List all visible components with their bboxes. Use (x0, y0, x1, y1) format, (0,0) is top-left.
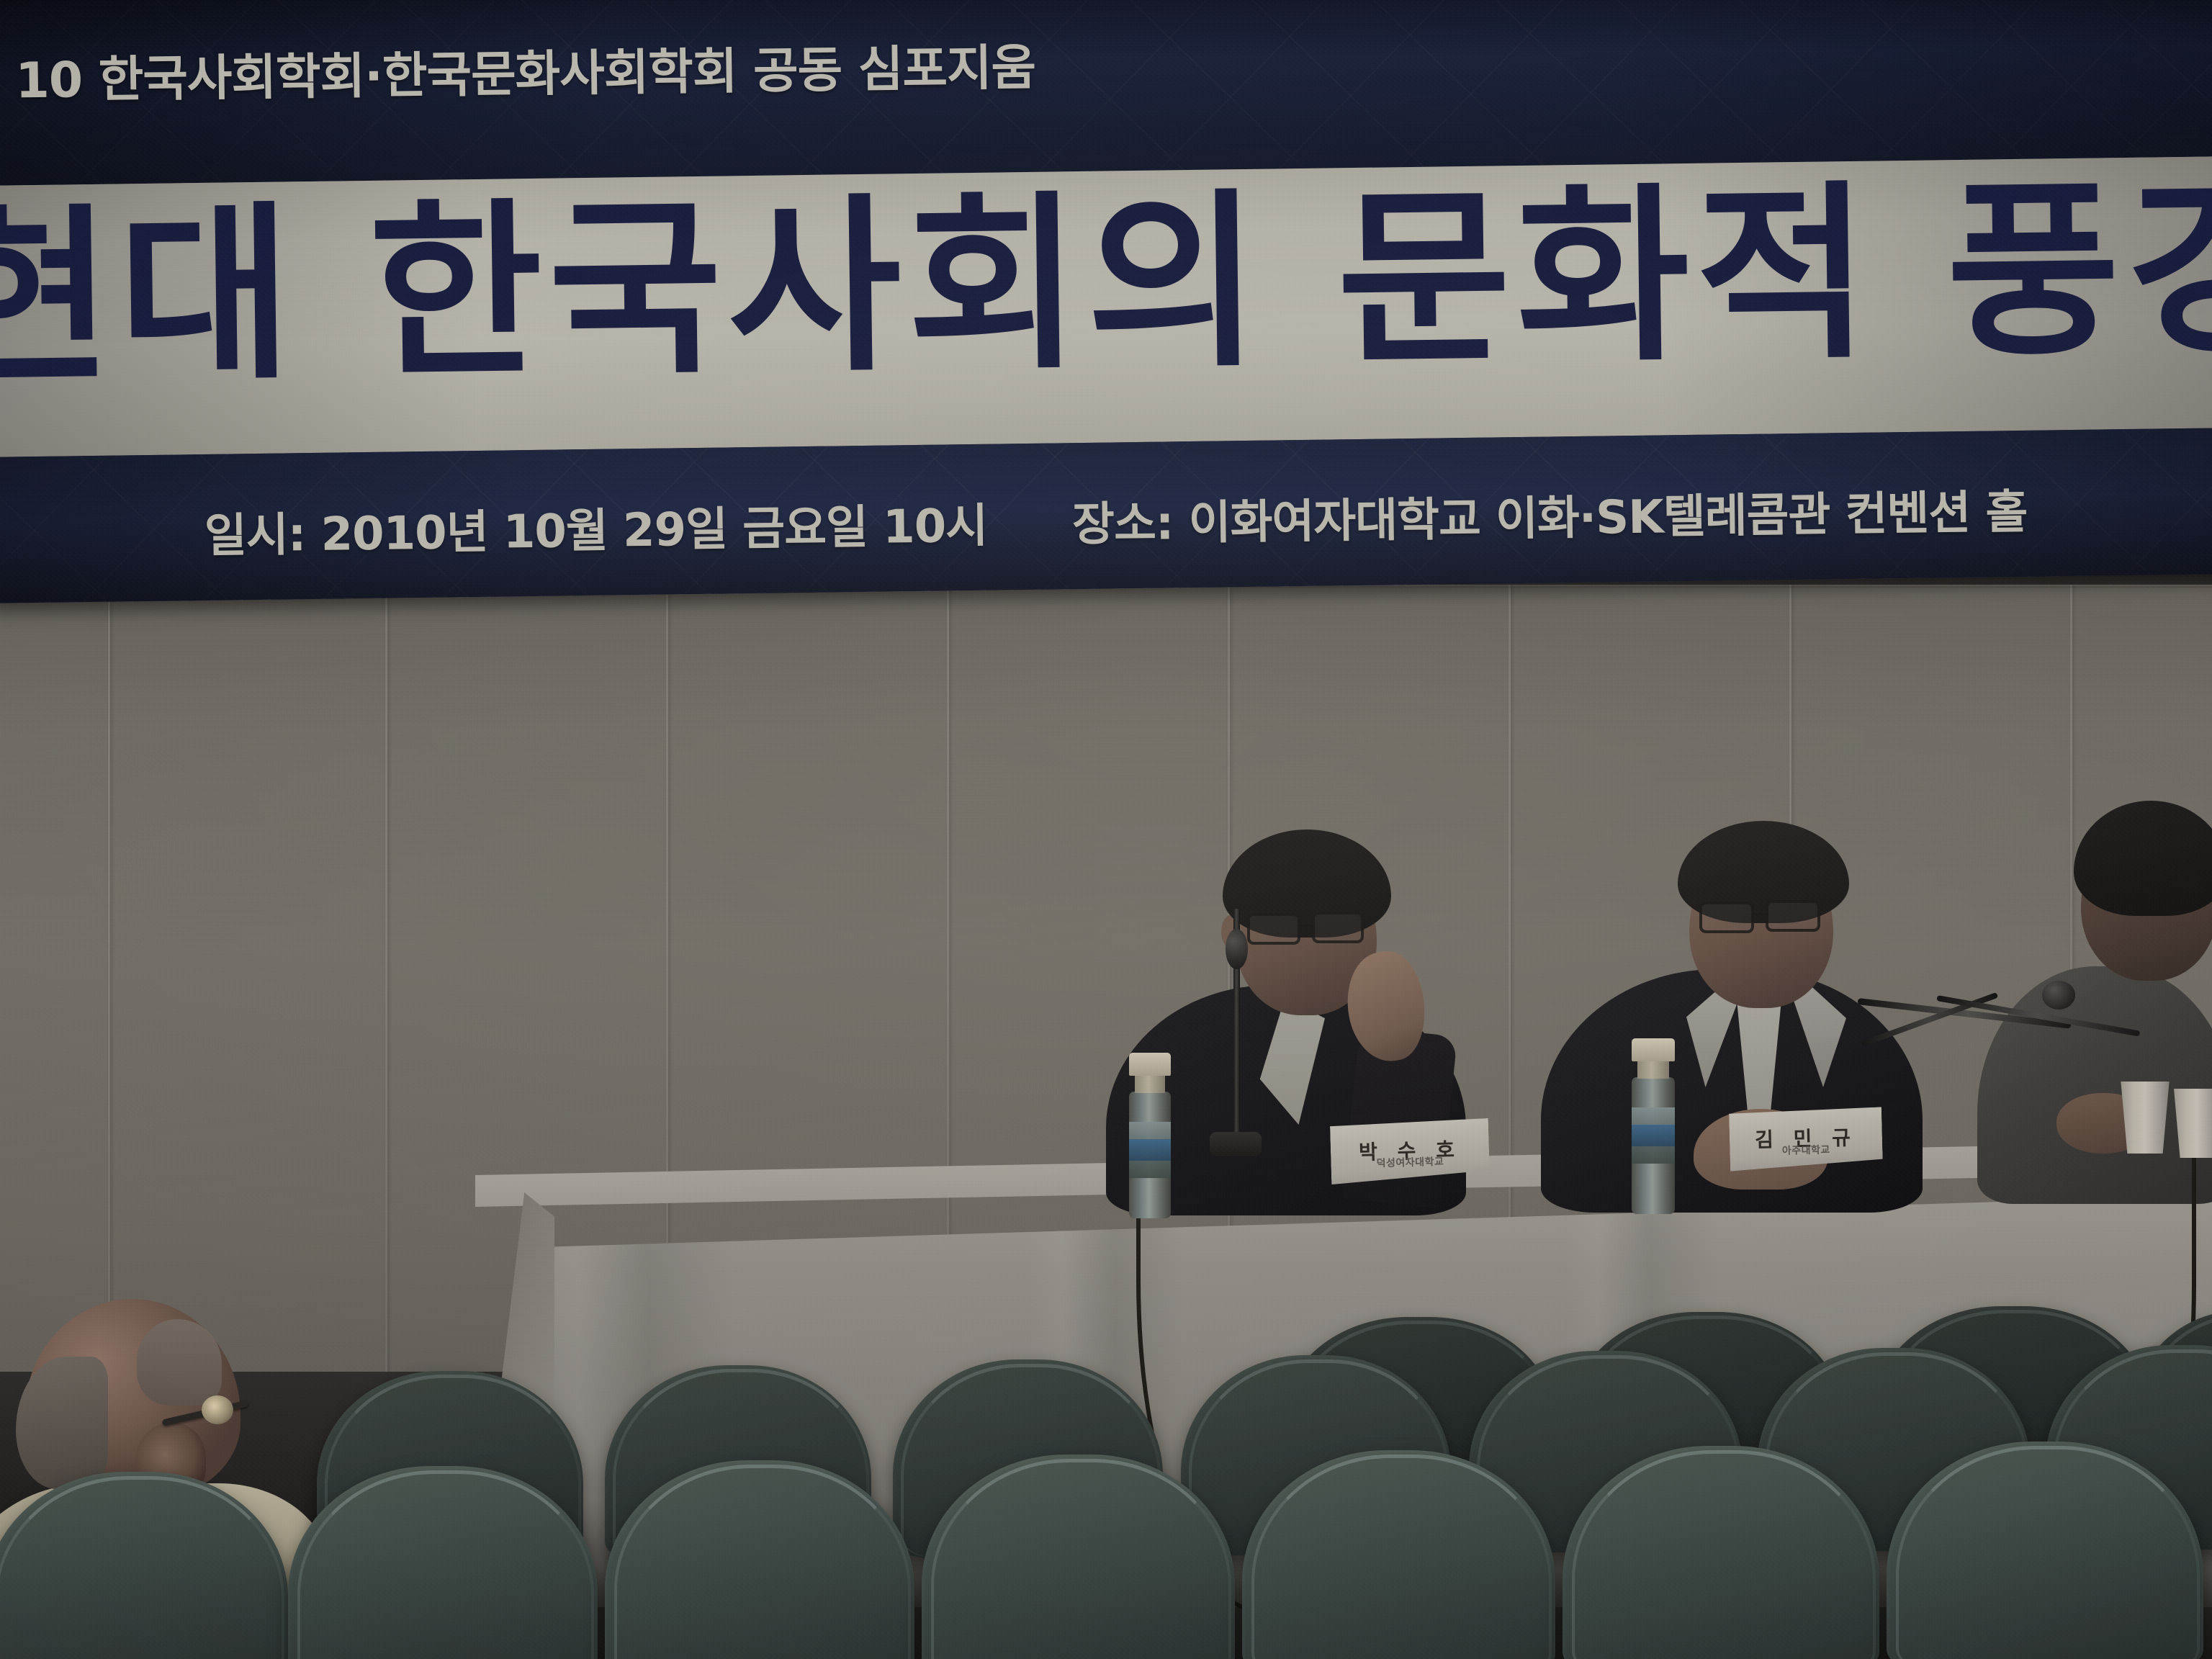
glasses-icon (1299, 925, 1313, 927)
bottle-icon (1632, 1038, 1675, 1214)
bottle-cap (1632, 1038, 1675, 1061)
panelist-hair (2074, 801, 2212, 916)
placard-affiliation: 아주대학교 (1730, 1141, 1882, 1159)
bottle-neck (1135, 1074, 1165, 1093)
bottle-label-stripe (1129, 1139, 1171, 1161)
wall-seam (108, 585, 110, 1391)
banner-top-band: 10 한국사회학회·한국문화사회학회 공동 심포지움 (0, 0, 2212, 186)
glasses-icon (1699, 902, 1754, 933)
bottle-icon (1129, 1053, 1171, 1218)
bottle-label-stripe (1632, 1125, 1675, 1146)
photo-content: 10 한국사회학회·한국문화사회학회 공동 심포지움 현대 한국사회의 문화적 … (0, 0, 2212, 1659)
banner-title-band: 현대 한국사회의 문화적 풍경 (0, 156, 2212, 457)
microphone-head (1226, 929, 1249, 969)
microphone-icon (1210, 929, 1262, 1156)
microphone-base (1210, 1132, 1262, 1156)
seat-icon[interactable] (0, 1472, 288, 1659)
bottle-cap (1129, 1053, 1171, 1076)
banner-info-band: 일시: 2010년 10월 29일 금요일 10시 장소: 이화여자대학교 이화… (0, 428, 2212, 603)
microphone-boom-arm (1936, 995, 2140, 1037)
glasses-icon (1312, 912, 1364, 943)
glasses-icon (1766, 900, 1820, 932)
banner-main-title: 현대 한국사회의 문화적 풍경 (0, 175, 2212, 394)
symposium-banner: 10 한국사회학회·한국문화사회학회 공동 심포지움 현대 한국사회의 문화적 … (0, 0, 2212, 603)
bottle-neck (1637, 1060, 1668, 1079)
microphone-icon (1937, 974, 2153, 1103)
banner-venue-info: 장소: 이화여자대학교 이화·SK텔레콤관 컨벤션 홀 (1071, 475, 2028, 554)
symposium-photograph: 10 한국사회학회·한국문화사회학회 공동 심포지움 현대 한국사회의 문화적 … (0, 0, 2212, 1659)
banner-date-info: 일시: 2010년 10월 29일 금요일 10시 (204, 489, 987, 565)
wall-seam (385, 585, 387, 1391)
auditorium-seating (0, 1299, 2212, 1659)
glasses-icon (1753, 913, 1767, 916)
